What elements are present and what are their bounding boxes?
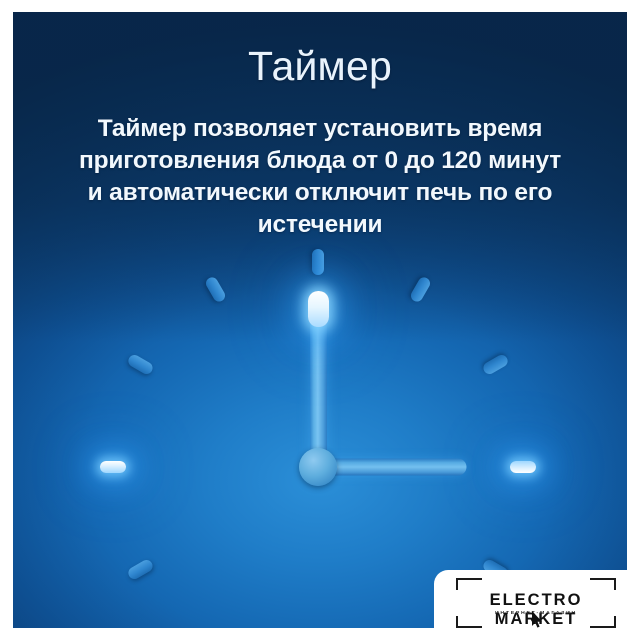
clock-minute-hand-tip-glow: [308, 291, 329, 327]
clock-tick-9: [100, 461, 126, 473]
poster-description-line: приготовления блюда от 0 до 120 минут: [70, 145, 570, 177]
clock-minute-hand: [310, 295, 327, 467]
clock-tick-12: [312, 249, 324, 275]
clock-tick-3: [510, 461, 536, 473]
clock-hour-hand: [318, 459, 466, 476]
poster-description: Таймер позволяет установить время пригот…: [70, 113, 570, 240]
logo-inner: ELECTRO MARKET ИНТЕРНЕТ-МАГАЗИН: [456, 578, 616, 628]
mouse-cursor-icon: [531, 611, 543, 629]
product-feature-poster: Таймер Таймер позволяет установить время…: [13, 12, 627, 628]
screenshot-canvas: Таймер Таймер позволяет установить время…: [0, 0, 640, 640]
poster-description-line: и автоматически отключит печь по его: [70, 177, 570, 209]
poster-text-block: Таймер Таймер позволяет установить время…: [13, 46, 627, 240]
clock-center-hub: [299, 448, 337, 486]
poster-title: Таймер: [13, 46, 627, 87]
poster-description-line: истечении: [70, 209, 570, 241]
electro-market-logo[interactable]: ELECTRO MARKET ИНТЕРНЕТ-МАГАЗИН: [434, 570, 640, 640]
poster-description-line: Таймер позволяет установить время: [70, 113, 570, 145]
